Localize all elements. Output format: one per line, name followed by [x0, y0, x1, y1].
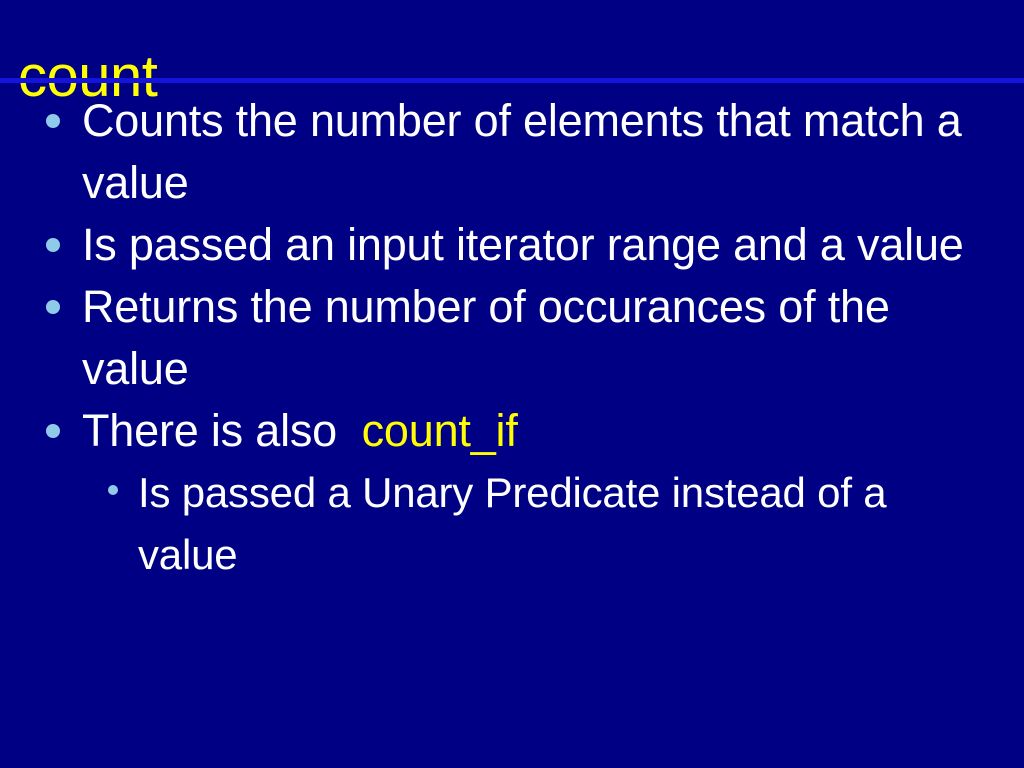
bullet-marker-icon [46, 300, 60, 314]
bullet-text: Is passed an input iterator range and a … [82, 214, 994, 276]
bullet-text: Counts the number of elements that match… [82, 90, 994, 214]
bullet-item: Is passed an input iterator range and a … [0, 214, 1024, 276]
title-divider-rule [0, 78, 1024, 83]
bullet-marker-icon [46, 114, 60, 128]
sub-bullet-item: Is passed a Unary Predicate instead of a… [0, 462, 1024, 586]
slide-body: Counts the number of elements that match… [0, 90, 1024, 586]
bullet-item: Counts the number of elements that match… [0, 90, 1024, 214]
bullet-marker-icon [46, 238, 60, 252]
bullet-text: There is also count_if [82, 400, 994, 462]
presentation-slide: count Counts the number of elements that… [0, 0, 1024, 768]
bullet-item: There is also count_if [0, 400, 1024, 462]
sub-bullet-marker-icon [108, 485, 118, 495]
sub-bullet-text: Is passed a Unary Predicate instead of a… [138, 462, 994, 586]
bullet-text-main: There is also [82, 405, 362, 456]
bullet-text: Returns the number of occurances of the … [82, 276, 994, 400]
bullet-item: Returns the number of occurances of the … [0, 276, 1024, 400]
bullet-marker-icon [46, 424, 60, 438]
bullet-text-accent: count_if [362, 405, 518, 456]
